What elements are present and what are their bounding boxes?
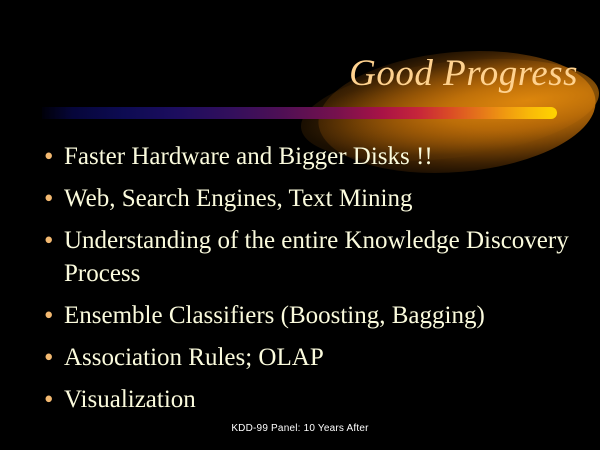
list-item-label: Visualization bbox=[64, 383, 574, 416]
presentation-slide: Good Progress • Faster Hardware and Bigg… bbox=[0, 0, 600, 450]
list-item-label: Faster Hardware and Bigger Disks !! bbox=[64, 140, 574, 173]
bullet-dot-icon: • bbox=[44, 341, 64, 374]
list-item-label: Association Rules; OLAP bbox=[64, 341, 574, 374]
list-item-label: Understanding of the entire Knowledge Di… bbox=[64, 224, 574, 290]
bullet-dot-icon: • bbox=[44, 140, 64, 173]
list-item: • Visualization bbox=[44, 383, 574, 416]
list-item: • Web, Search Engines, Text Mining bbox=[44, 182, 574, 215]
list-item: • Association Rules; OLAP bbox=[44, 341, 574, 374]
bullet-dot-icon: • bbox=[44, 383, 64, 416]
list-item: • Faster Hardware and Bigger Disks !! bbox=[44, 140, 574, 173]
bullet-dot-icon: • bbox=[44, 224, 64, 257]
list-item: • Understanding of the entire Knowledge … bbox=[44, 224, 574, 290]
bullet-dot-icon: • bbox=[44, 299, 64, 332]
list-item-label: Ensemble Classifiers (Boosting, Bagging) bbox=[64, 299, 574, 332]
list-item-label: Web, Search Engines, Text Mining bbox=[64, 182, 574, 215]
list-item: • Ensemble Classifiers (Boosting, Baggin… bbox=[44, 299, 574, 332]
slide-footer: KDD-99 Panel: 10 Years After bbox=[0, 423, 600, 435]
page-title: Good Progress bbox=[349, 52, 578, 96]
comet-gradient-bar bbox=[42, 107, 557, 119]
bullet-dot-icon: • bbox=[44, 182, 64, 215]
bullet-list: • Faster Hardware and Bigger Disks !! • … bbox=[44, 140, 574, 425]
